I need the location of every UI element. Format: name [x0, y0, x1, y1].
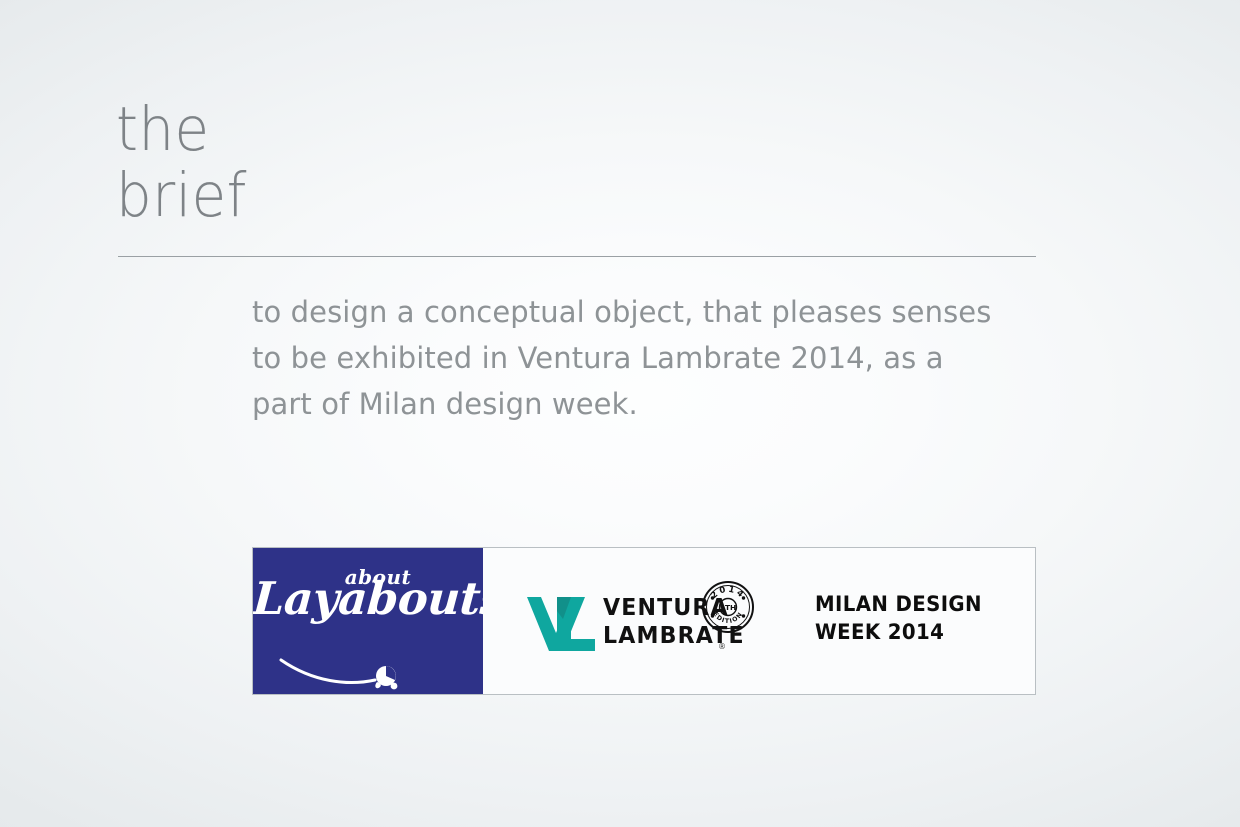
page-title: the brief: [116, 97, 596, 229]
ventura-lambrate-vl-monogram-icon: [527, 597, 595, 651]
page-title-line-2: brief: [116, 163, 558, 229]
event-logos-panel: VENTURA LAMBRATE 2014 EDITI: [483, 548, 1035, 694]
svg-text:9TH: 9TH: [720, 603, 736, 612]
registered-trademark-mark: ®: [718, 642, 726, 651]
milan-design-week-line-2: WEEK 2014: [815, 618, 982, 646]
title-divider: [118, 256, 1036, 257]
about-layabouts-wordmark: about Layabouts: [253, 568, 483, 624]
milan-design-week-wordmark: MILAN DESIGN WEEK 2014: [815, 590, 982, 646]
slide-canvas: the brief to design a conceptual object,…: [0, 0, 1240, 827]
brief-line-3: part of Milan design week.: [252, 381, 1072, 427]
svg-text:EDITION: EDITION: [711, 611, 744, 625]
brief-description: to design a conceptual object, that plea…: [252, 289, 1072, 427]
page-title-line-1: the: [116, 97, 558, 163]
layabouts-flourish-icon: [253, 656, 483, 690]
brief-line-2: to be exhibited in Ventura Lambrate 2014…: [252, 335, 1072, 381]
ventura-lambrate-edition-stamp-icon: 2014 EDITION 9TH: [699, 578, 757, 636]
logo-bar: about Layabouts VENTURA LAMBRATE: [252, 547, 1036, 695]
about-layabouts-script-about: about: [273, 568, 483, 586]
about-layabouts-logo: about Layabouts: [253, 548, 483, 694]
milan-design-week-line-1: MILAN DESIGN: [815, 590, 982, 618]
brief-line-1: to design a conceptual object, that plea…: [252, 289, 1072, 335]
